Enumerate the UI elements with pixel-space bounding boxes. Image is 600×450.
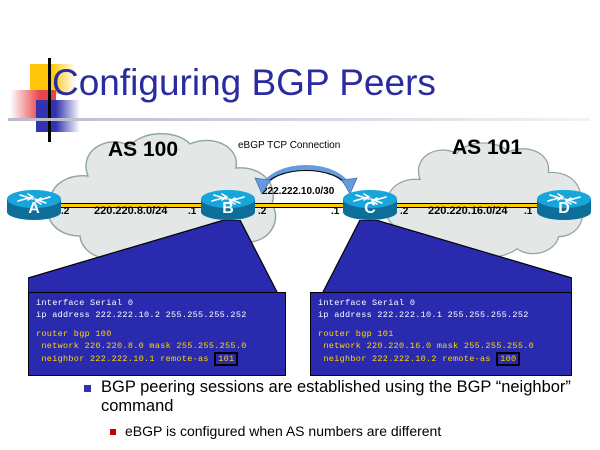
config-left-line-5: neighbor 222.222.10.1 remote-as 101 — [36, 352, 279, 366]
as-100-label: AS 100 — [108, 138, 178, 162]
config-left-remote-as-highlight: 101 — [214, 352, 238, 366]
config-right-line-5: neighbor 222.222.10.2 remote-as 100 — [318, 352, 565, 366]
config-box-right: interface Serial 0 ip address 222.222.10… — [310, 292, 572, 376]
config-left-neighbor-prefix: neighbor 222.222.10.1 remote-as — [36, 354, 214, 364]
router-a[interactable]: A — [6, 188, 62, 222]
config-right-neighbor-prefix: neighbor 222.222.10.2 remote-as — [318, 354, 496, 364]
slide-canvas: Configuring BGP Peers AS 100 AS 101 220.… — [0, 0, 600, 450]
bullet-level1-text: BGP peering sessions are established usi… — [101, 378, 584, 416]
router-d[interactable]: D — [536, 188, 592, 222]
config-right-line-1: interface Serial 0 — [318, 298, 565, 310]
config-left-spacer — [36, 321, 279, 329]
config-right-remote-as-highlight: 100 — [496, 352, 520, 366]
bullet-level1: BGP peering sessions are established usi… — [84, 378, 584, 416]
config-right-line-2: ip address 222.222.10.1 255.255.255.252 — [318, 310, 565, 322]
bullet-square-red-icon — [110, 429, 116, 435]
if-label-a-right: .2 — [61, 206, 69, 217]
title-divider — [8, 118, 590, 121]
config-right-line-4: network 220.220.16.0 mask 255.255.255.0 — [318, 341, 565, 353]
link-label-c-d: 220.220.16.0/24 — [428, 205, 508, 217]
logo-square-blue — [36, 100, 80, 132]
config-left-line-3: router bgp 100 — [36, 329, 279, 341]
config-left-line-2: ip address 222.222.10.2 255.255.255.252 — [36, 310, 279, 322]
as-101-label: AS 101 — [452, 136, 522, 160]
logo-vertical-line — [48, 58, 51, 142]
page-title: Configuring BGP Peers — [52, 62, 582, 104]
bullet-level2-text: eBGP is configured when AS numbers are d… — [125, 423, 441, 440]
if-label-b-left: .1 — [188, 206, 196, 217]
link-label-a-b: 220.220.8.0/24 — [94, 205, 167, 217]
if-label-d-left: .1 — [524, 206, 532, 217]
router-c[interactable]: C — [342, 188, 398, 222]
router-b[interactable]: B — [200, 188, 256, 222]
if-label-c-right: .2 — [400, 206, 408, 217]
config-box-left: interface Serial 0 ip address 222.222.10… — [28, 292, 286, 376]
if-label-c-left: .1 — [331, 206, 339, 217]
callout-tail-left — [28, 220, 278, 301]
if-label-b-right: .2 — [258, 206, 266, 217]
config-left-line-1: interface Serial 0 — [36, 298, 279, 310]
config-right-line-3: router bgp 101 — [318, 329, 565, 341]
bullet-level2: eBGP is configured when AS numbers are d… — [110, 423, 580, 440]
callout-tail-right — [322, 220, 572, 301]
config-right-spacer — [318, 321, 565, 329]
config-left-line-4: network 220.220.8.0 mask 255.255.255.0 — [36, 341, 279, 353]
bullet-square-blue-icon — [84, 385, 91, 392]
